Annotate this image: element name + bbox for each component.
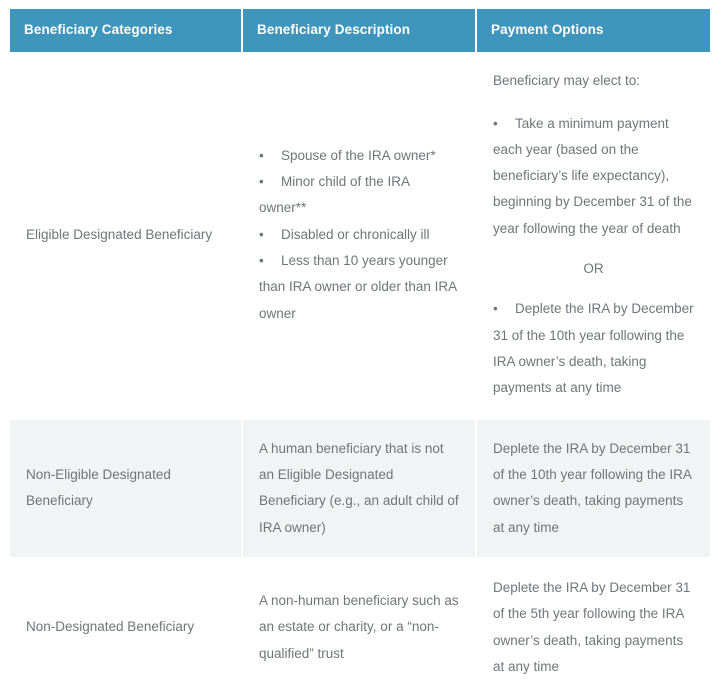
column-header-beneficiary-description: Beneficiary Description — [242, 9, 476, 52]
cell-description-eligible-designated-beneficiary: •Spouse of the IRA owner* •Minor child o… — [242, 52, 476, 418]
payment-bullet-list-second: •Deplete the IRA by December 31 of the 1… — [493, 296, 694, 401]
bullet-icon: • — [259, 169, 281, 195]
cell-category-non-designated-beneficiary: Non-Designated Beneficiary — [10, 558, 242, 696]
beneficiary-options-table: Beneficiary Categories Beneficiary Descr… — [10, 9, 710, 696]
bullet-icon: • — [259, 248, 281, 274]
cell-payment-non-designated-beneficiary: Deplete the IRA by December 31 of the 5t… — [476, 558, 710, 696]
table-row: Non-Eligible Designated Beneficiary A hu… — [10, 419, 710, 558]
bullet-icon: • — [259, 143, 281, 169]
payment-or-separator: OR — [493, 256, 694, 282]
list-item-label: Minor child of the IRA owner** — [259, 174, 409, 215]
cell-category-eligible-designated-beneficiary: Eligible Designated Beneficiary — [10, 52, 242, 418]
list-item: •Take a minimum payment each year (based… — [493, 111, 694, 243]
payment-intro-text: Beneficiary may elect to: — [493, 68, 694, 94]
list-item: •Spouse of the IRA owner* — [259, 143, 459, 169]
list-item: •Deplete the IRA by December 31 of the 1… — [493, 296, 694, 401]
description-bullet-list: •Spouse of the IRA owner* •Minor child o… — [259, 143, 459, 327]
bullet-icon: • — [493, 111, 515, 137]
list-item: •Disabled or chronically ill — [259, 222, 459, 248]
column-header-beneficiary-categories: Beneficiary Categories — [10, 9, 242, 52]
cell-category-non-eligible-designated-beneficiary: Non-Eligible Designated Beneficiary — [10, 419, 242, 558]
cell-payment-non-eligible-designated-beneficiary: Deplete the IRA by December 31 of the 10… — [476, 419, 710, 558]
table-header-row: Beneficiary Categories Beneficiary Descr… — [10, 9, 710, 52]
column-header-payment-options: Payment Options — [476, 9, 710, 52]
payment-bullet-list-first: •Take a minimum payment each year (based… — [493, 111, 694, 243]
list-item-label: Take a minimum payment each year (based … — [493, 116, 692, 236]
list-item-label: Disabled or chronically ill — [281, 227, 430, 242]
cell-description-non-eligible-designated-beneficiary: A human beneficiary that is not an Eligi… — [242, 419, 476, 558]
bullet-icon: • — [259, 222, 281, 248]
list-item-label: Spouse of the IRA owner* — [281, 148, 436, 163]
list-item-label: Deplete the IRA by December 31 of the 10… — [493, 301, 694, 395]
list-item-label: Less than 10 years younger than IRA owne… — [259, 253, 456, 321]
table-body: Eligible Designated Beneficiary •Spouse … — [10, 52, 710, 696]
bullet-icon: • — [493, 296, 515, 322]
cell-description-non-designated-beneficiary: A non-human beneficiary such as an estat… — [242, 558, 476, 696]
table-header: Beneficiary Categories Beneficiary Descr… — [10, 9, 710, 52]
table-row: Eligible Designated Beneficiary •Spouse … — [10, 52, 710, 418]
list-item: •Less than 10 years younger than IRA own… — [259, 248, 459, 327]
list-item: •Minor child of the IRA owner** — [259, 169, 459, 222]
table-row: Non-Designated Beneficiary A non-human b… — [10, 558, 710, 696]
cell-payment-eligible-designated-beneficiary: Beneficiary may elect to: •Take a minimu… — [476, 52, 710, 418]
beneficiary-table-container: Beneficiary Categories Beneficiary Descr… — [10, 9, 710, 696]
